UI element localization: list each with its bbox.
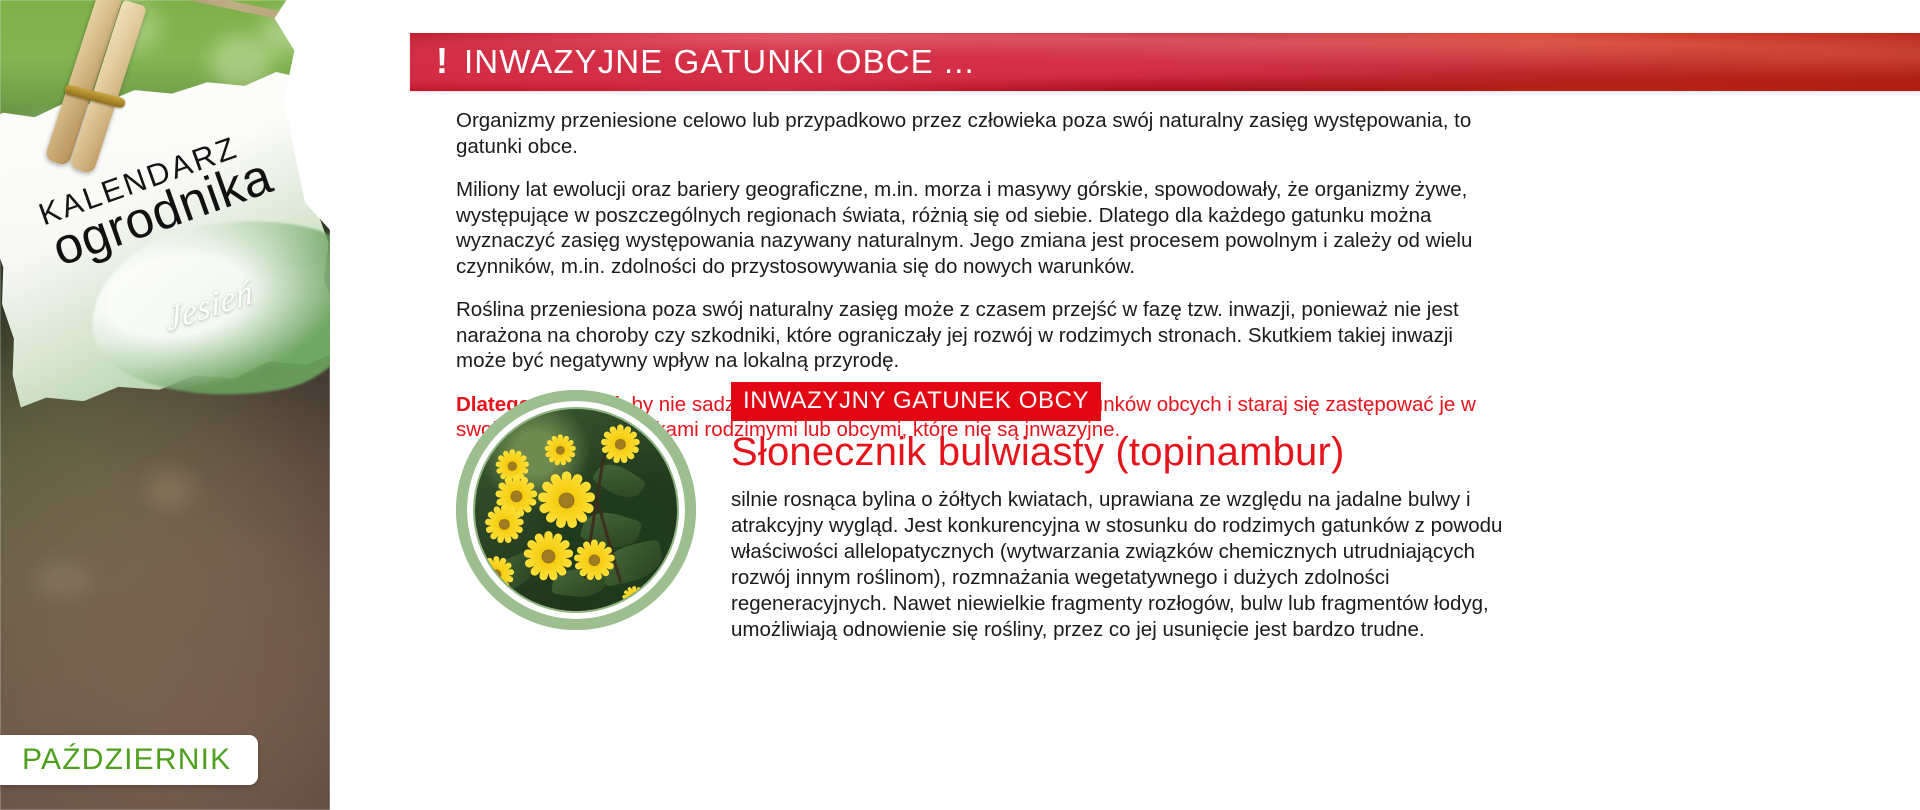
species-badge: INWAZYJNY GATUNEK OBCY [731,382,1101,421]
species-photo-green-ring [456,390,696,630]
sidebar-white-notch-top [296,0,330,96]
species-photo [456,390,696,630]
species-name: Słonecznik bulwiasty (topinambur) [731,430,1536,475]
month-badge: PAŹDZIERNIK [0,735,258,785]
calendar-card: KALENDARZ ogrodnika Jesień [0,65,330,411]
species-text: INWAZYJNY GATUNEK OBCY Słonecznik bulwia… [731,382,1536,643]
poster-page: KALENDARZ ogrodnika Jesień PAŹDZIERNIK !… [0,0,1920,810]
month-badge-label: PAŹDZIERNIK [0,743,231,777]
header-title: INWAZYJNE GATUNKI OBCE ... [464,43,975,81]
sidebar: KALENDARZ ogrodnika Jesień PAŹDZIERNIK [0,0,330,810]
paragraph: Miliony lat ewolucji oraz bariery geogra… [456,177,1486,279]
bokeh-highlight [146,470,194,510]
paragraph: Roślina przeniesiona poza swój naturalny… [456,297,1486,374]
bokeh-highlight [34,560,94,600]
paragraph: Organizmy przeniesione celowo lub przypa… [456,108,1486,159]
species-description: silnie rosnąca bylina o żółtych kwiatach… [731,487,1536,643]
layout-gutter [330,0,410,810]
header-banner: ! INWAZYJNE GATUNKI OBCE ... [410,33,1920,91]
exclamation-icon: ! [436,43,448,79]
